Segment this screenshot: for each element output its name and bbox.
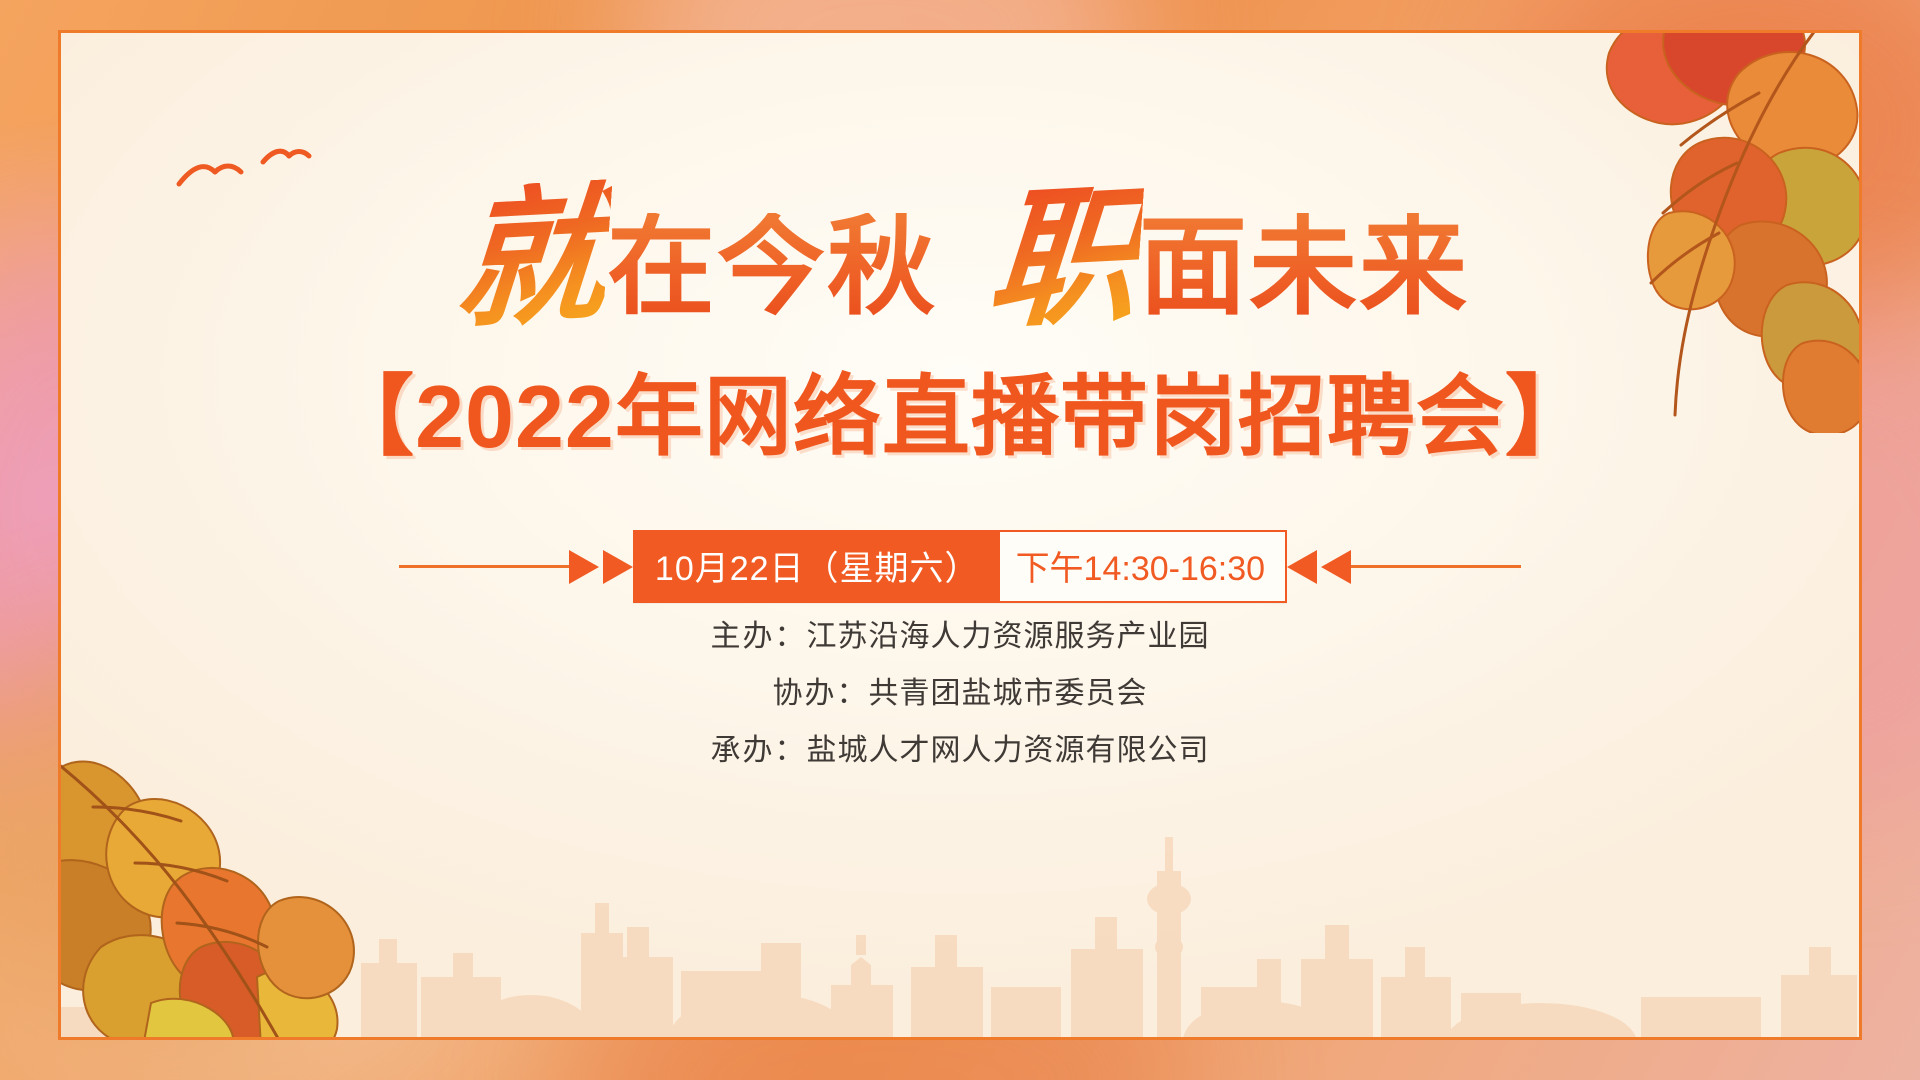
headline-bold-1: 在今秋 — [607, 213, 937, 321]
organizer-name: 共青团盐城市委员会 — [869, 677, 1148, 710]
headline-calligraphy-2: 职 — [977, 179, 1144, 337]
organizer-name: 江苏沿海人力资源服务产业园 — [807, 620, 1210, 653]
arrow-right-icon — [569, 550, 599, 584]
organizer-role: 协办： — [773, 677, 869, 710]
organizer-role: 主办： — [711, 620, 807, 653]
date-time-bar: 10月22日（星期六） 下午14:30-16:30 — [61, 530, 1859, 603]
city-skyline-icon — [61, 807, 1862, 1037]
organizer-list: 主办：江苏沿海人力资源服务产业园 协办：共青团盐城市委员会 承办：盐城人才网人力… — [61, 611, 1859, 769]
organizer-name: 盐城人才网人力资源有限公司 — [807, 734, 1210, 767]
headline-calligraphy-1: 就 — [445, 179, 612, 337]
date-time-chip: 10月22日（星期六） 下午14:30-16:30 — [633, 530, 1287, 603]
poster-card: 就 在今秋 职 面未来 【2022年网络直播带岗招聘会】 10月22日（星期六）… — [58, 30, 1862, 1040]
arrow-right-icon — [603, 550, 633, 584]
event-date: 10月22日（星期六） — [633, 530, 1000, 603]
arrow-left-icon — [1287, 550, 1317, 584]
arrow-left-icon — [1321, 550, 1351, 584]
poster-root: 就 在今秋 职 面未来 【2022年网络直播带岗招聘会】 10月22日（星期六）… — [0, 0, 1920, 1080]
event-time: 下午14:30-16:30 — [1000, 530, 1288, 603]
organizer-row: 协办：共青团盐城市委员会 — [773, 668, 1148, 712]
headline: 就 在今秋 职 面未来 — [61, 183, 1859, 333]
organizer-row: 承办：盐城人才网人力资源有限公司 — [711, 725, 1210, 769]
rule-right — [1351, 565, 1521, 568]
organizer-row: 主办：江苏沿海人力资源服务产业园 — [711, 611, 1210, 655]
page-title: 【2022年网络直播带岗招聘会】 — [61, 373, 1859, 461]
rule-left — [399, 565, 569, 568]
organizer-role: 承办： — [711, 734, 807, 767]
headline-bold-2: 面未来 — [1139, 213, 1469, 321]
